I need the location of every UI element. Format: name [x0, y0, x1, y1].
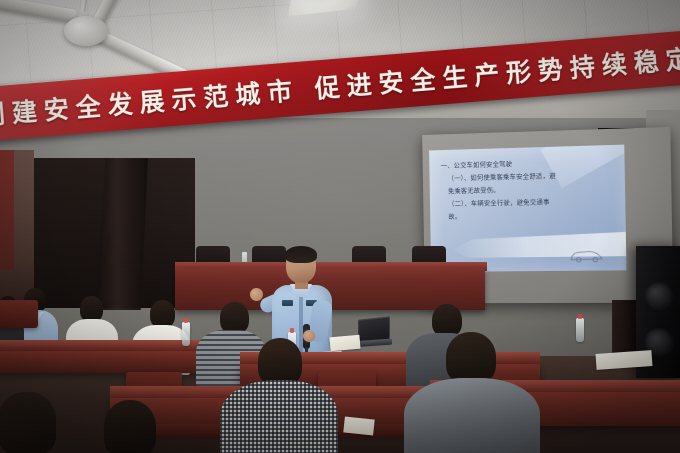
- audience-head: [150, 300, 175, 328]
- slide-text-block: 一、公交车如何安全驾驶 （一）、如何使乘客乘车安全舒适，避 免乘客无故受伤。 （…: [441, 155, 616, 224]
- audience-head: [446, 332, 496, 384]
- car-illustration-icon: [569, 247, 604, 262]
- audience-torso: [220, 380, 338, 453]
- audience-member: [82, 400, 174, 453]
- presenter-left-hand: [250, 288, 263, 301]
- audience-head: [0, 392, 56, 453]
- audience-head: [104, 400, 156, 453]
- fan-rod: [79, 0, 91, 12]
- water-bottle: [182, 322, 190, 346]
- audience-member: [0, 392, 80, 453]
- audience-torso: [404, 378, 540, 453]
- fan-blade: [0, 0, 77, 23]
- fan-hub: [64, 16, 108, 46]
- speaker-cone: [644, 282, 674, 312]
- slide-line: 故。: [442, 208, 616, 223]
- audience-member-gray-shirt: [404, 332, 540, 453]
- paper-sheet: [343, 416, 375, 435]
- presentation-slide: 一、公交车如何安全驾驶 （一）、如何使乘客乘车安全舒适，避 免乘客无故受伤。 （…: [429, 145, 626, 272]
- chair-back: [0, 300, 38, 328]
- ceiling-fan-icon: [0, 0, 186, 79]
- presenter-shoulder-badge: [282, 300, 293, 306]
- left-red-wall-strip: [0, 150, 14, 270]
- audience-head: [258, 338, 302, 386]
- photo-scene: 一、公交车如何安全驾驶 （一）、如何使乘客乘车安全舒适，避 免乘客无故受伤。 （…: [0, 0, 680, 453]
- audience-member-checkered-shirt: [220, 338, 338, 453]
- presenter-hair: [285, 246, 317, 263]
- water-bottle: [576, 318, 584, 342]
